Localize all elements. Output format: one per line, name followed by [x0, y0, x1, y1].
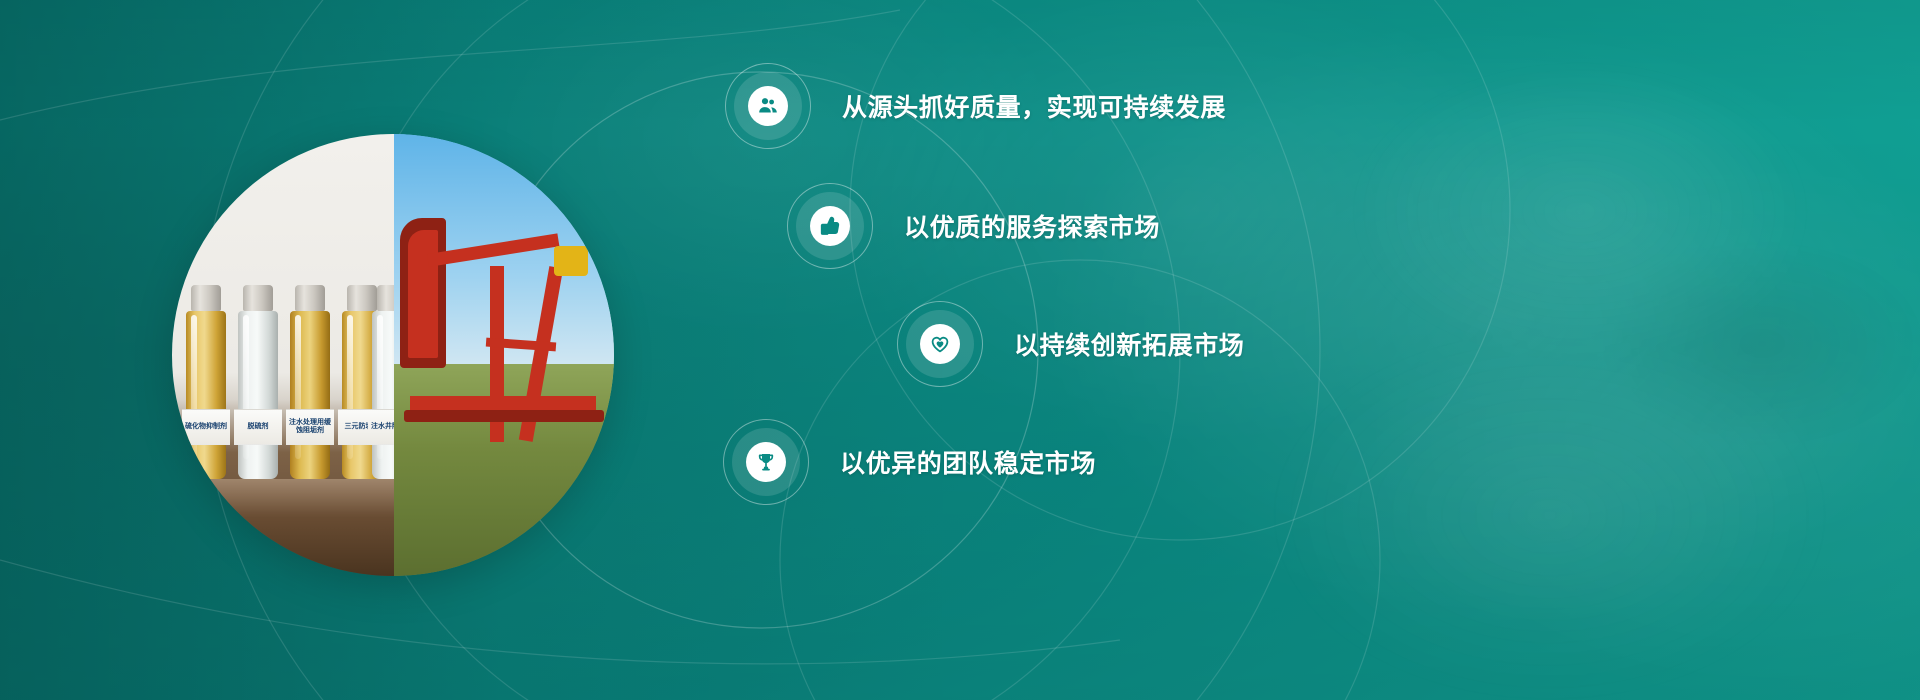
- table-surface: [172, 479, 394, 576]
- bottles-photo: 硫化物抑制剂 脱硫剂 注水处理用缓蚀阻垢剂: [172, 134, 394, 576]
- bottle-3: 注水处理用缓蚀阻垢剂: [290, 311, 330, 479]
- bottle-1: 硫化物抑制剂: [186, 311, 226, 479]
- pumpjack-skid: [404, 410, 604, 422]
- pumpjack-photo: [394, 134, 614, 576]
- bottle-body: [238, 311, 278, 479]
- pumpjack-walking-beam-end: [408, 230, 438, 358]
- bottle-body: [372, 311, 394, 479]
- bottle-label: 注水处理用缓蚀阻垢剂: [286, 409, 334, 445]
- feature-text: 以持续创新拓展市场: [1014, 326, 1244, 362]
- feature-item-3[interactable]: 以持续创新拓展市场: [906, 310, 1244, 378]
- icon-ring: [734, 72, 802, 140]
- feature-item-1[interactable]: 从源头抓好质量，实现可持续发展: [734, 72, 1226, 140]
- feature-text: 从源头抓好质量，实现可持续发展: [842, 88, 1226, 124]
- bottle-cap: [295, 285, 325, 311]
- thumbs-up-icon: [810, 206, 850, 246]
- bottle-body: [290, 311, 330, 479]
- hero-banner: 硫化物抑制剂 脱硫剂 注水处理用缓蚀阻垢剂: [0, 0, 1920, 700]
- feature-text: 以优质的服务探索市场: [904, 208, 1160, 244]
- bottle-label: 脱硫剂: [234, 409, 282, 445]
- bottle-cap: [243, 285, 273, 311]
- users-icon: [748, 86, 788, 126]
- bottle-2: 脱硫剂: [238, 311, 278, 479]
- feature-item-4[interactable]: 以优异的团队稳定市场: [732, 428, 1096, 496]
- bottle-cap: [377, 285, 394, 311]
- trophy-icon: [746, 442, 786, 482]
- bottle-cap: [347, 285, 377, 311]
- bottle-cap: [191, 285, 221, 311]
- feature-text: 以优异的团队稳定市场: [840, 444, 1096, 480]
- bottle-label: 注水井除垢剂: [368, 409, 394, 445]
- feature-item-2[interactable]: 以优质的服务探索市场: [796, 192, 1160, 260]
- bottle-5: 注水井除垢剂: [372, 311, 394, 479]
- icon-ring: [732, 428, 800, 496]
- icon-ring: [796, 192, 864, 260]
- bottle-label: 硫化物抑制剂: [182, 409, 230, 445]
- bottle-body: [186, 311, 226, 479]
- icon-ring: [906, 310, 974, 378]
- heart-hand-icon: [920, 324, 960, 364]
- feature-list: 从源头抓好质量，实现可持续发展 以优质的服务探索市场: [700, 0, 1800, 700]
- pumpjack-head: [554, 246, 588, 276]
- hero-photo-circle: 硫化物抑制剂 脱硫剂 注水处理用缓蚀阻垢剂: [172, 134, 614, 576]
